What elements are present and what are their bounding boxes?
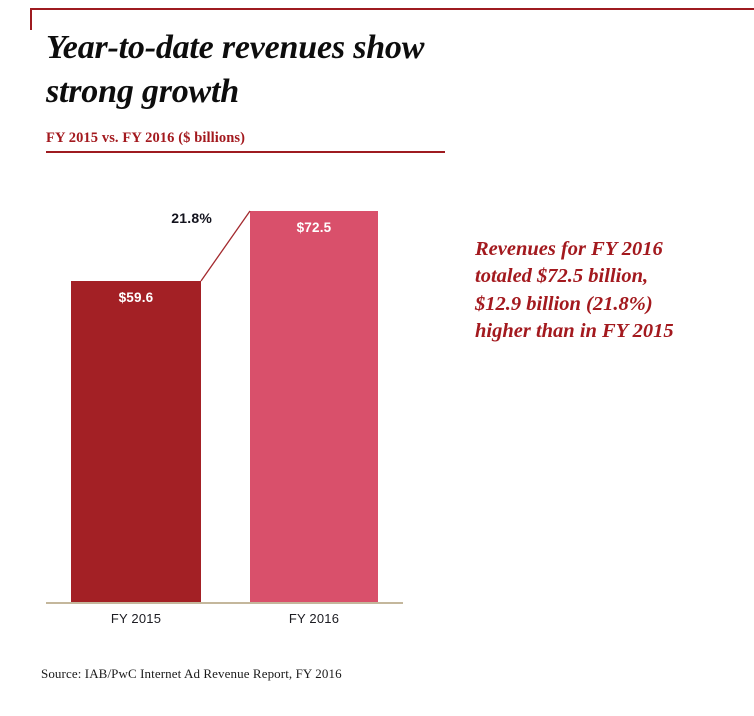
x-axis-label-fy2015: FY 2015 <box>71 611 201 626</box>
insight-callout-line-1: Revenues for FY 2016 <box>475 236 735 263</box>
bar-fy2016[interactable]: $72.5 <box>250 211 378 602</box>
growth-percent-label: 21.8% <box>146 210 212 226</box>
insight-callout-line-4: higher than in FY 2015 <box>475 318 735 345</box>
insight-callout-line-2: totaled $72.5 billion, <box>475 263 735 290</box>
subtitle-underline-rule <box>46 151 445 153</box>
source-note: Source: IAB/PwC Internet Ad Revenue Repo… <box>41 666 342 682</box>
x-axis-label-fy2016: FY 2016 <box>250 611 378 626</box>
bar-value-label-fy2016: $72.5 <box>250 220 378 235</box>
page-title: Year-to-date revenues show strong growth <box>46 26 606 113</box>
chart-subtitle: FY 2015 vs. FY 2016 ($ billions) <box>46 130 245 147</box>
page-title-line-1: Year-to-date revenues show <box>46 26 606 70</box>
growth-connector-line <box>195 205 257 290</box>
x-axis-line <box>46 602 403 604</box>
page-title-line-2: strong growth <box>46 70 606 114</box>
top-border-rule <box>30 8 754 10</box>
left-border-rule <box>30 8 32 30</box>
insight-callout-line-3: $12.9 billion (21.8%) <box>475 291 735 318</box>
bar-value-label-fy2015: $59.6 <box>71 290 201 305</box>
insight-callout: Revenues for FY 2016 totaled $72.5 billi… <box>475 236 735 345</box>
bar-fy2015[interactable]: $59.6 <box>71 281 201 602</box>
